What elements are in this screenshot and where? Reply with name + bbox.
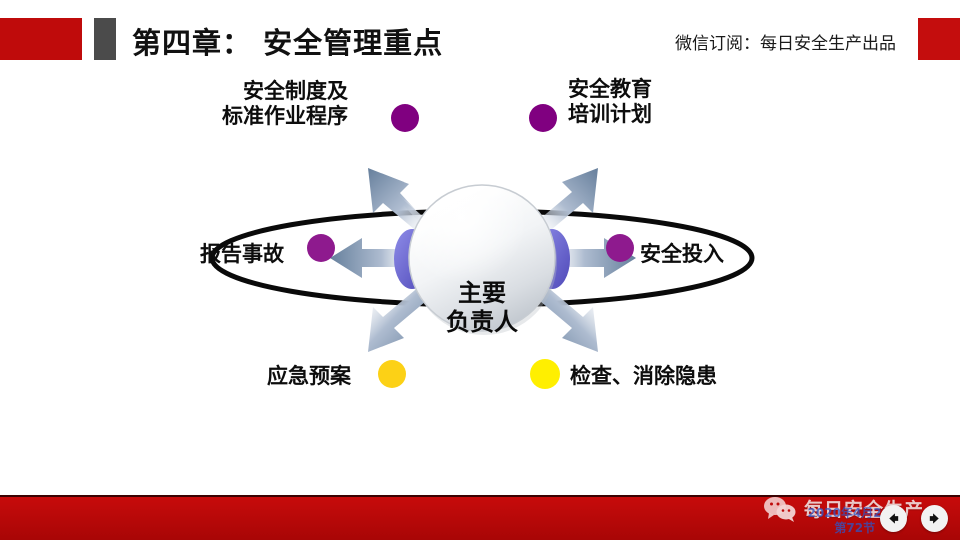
node-label-top-left-line2: 标准作业程序 bbox=[222, 104, 348, 129]
next-page-button[interactable] bbox=[921, 505, 948, 532]
prev-page-button[interactable] bbox=[880, 505, 907, 532]
node-label-top-left: 安全制度及 标准作业程序 bbox=[222, 79, 348, 129]
node-label-top-left-line1: 安全制度及 bbox=[222, 79, 348, 104]
node-label-top-right-line1: 安全教育 bbox=[568, 77, 652, 102]
arrow-right-icon bbox=[927, 511, 942, 526]
navigation-controls bbox=[880, 505, 948, 532]
arrow-left-icon bbox=[886, 511, 901, 526]
node-label-top-right: 安全教育 培训计划 bbox=[568, 77, 652, 127]
header-gray-bar bbox=[94, 18, 116, 60]
node-label-middle-left: 报告事故 bbox=[200, 242, 284, 267]
node-label-bottom-right: 检查、消除隐患 bbox=[570, 364, 717, 389]
node-label-top-right-line2: 培训计划 bbox=[568, 102, 652, 127]
slide-canvas: 第四章： 安全管理重点 微信订阅：每日安全生产出品 bbox=[0, 0, 960, 540]
node-dot-bottom-left bbox=[378, 360, 406, 388]
page-title: 第四章： 安全管理重点 bbox=[132, 20, 443, 62]
node-label-middle-right: 安全投入 bbox=[640, 242, 724, 267]
header-red-block-left bbox=[0, 18, 82, 60]
subscription-note: 微信订阅：每日安全生产出品 bbox=[675, 29, 896, 54]
node-label-bottom-left: 应急预案 bbox=[267, 364, 351, 389]
node-dot-middle-right bbox=[606, 234, 634, 262]
node-dot-top-right bbox=[529, 104, 557, 132]
diagram-graphics bbox=[0, 62, 960, 462]
radial-diagram: 安全制度及 标准作业程序 安全教育 培训计划 报告事故 安全投入 应急预案 检查… bbox=[0, 62, 960, 462]
node-dot-middle-left bbox=[307, 234, 335, 262]
node-dot-bottom-right bbox=[530, 359, 560, 389]
footer-bar bbox=[0, 495, 960, 540]
header-red-block-right bbox=[918, 18, 960, 60]
node-dot-top-left bbox=[391, 104, 419, 132]
center-sphere-highlight bbox=[411, 187, 553, 329]
